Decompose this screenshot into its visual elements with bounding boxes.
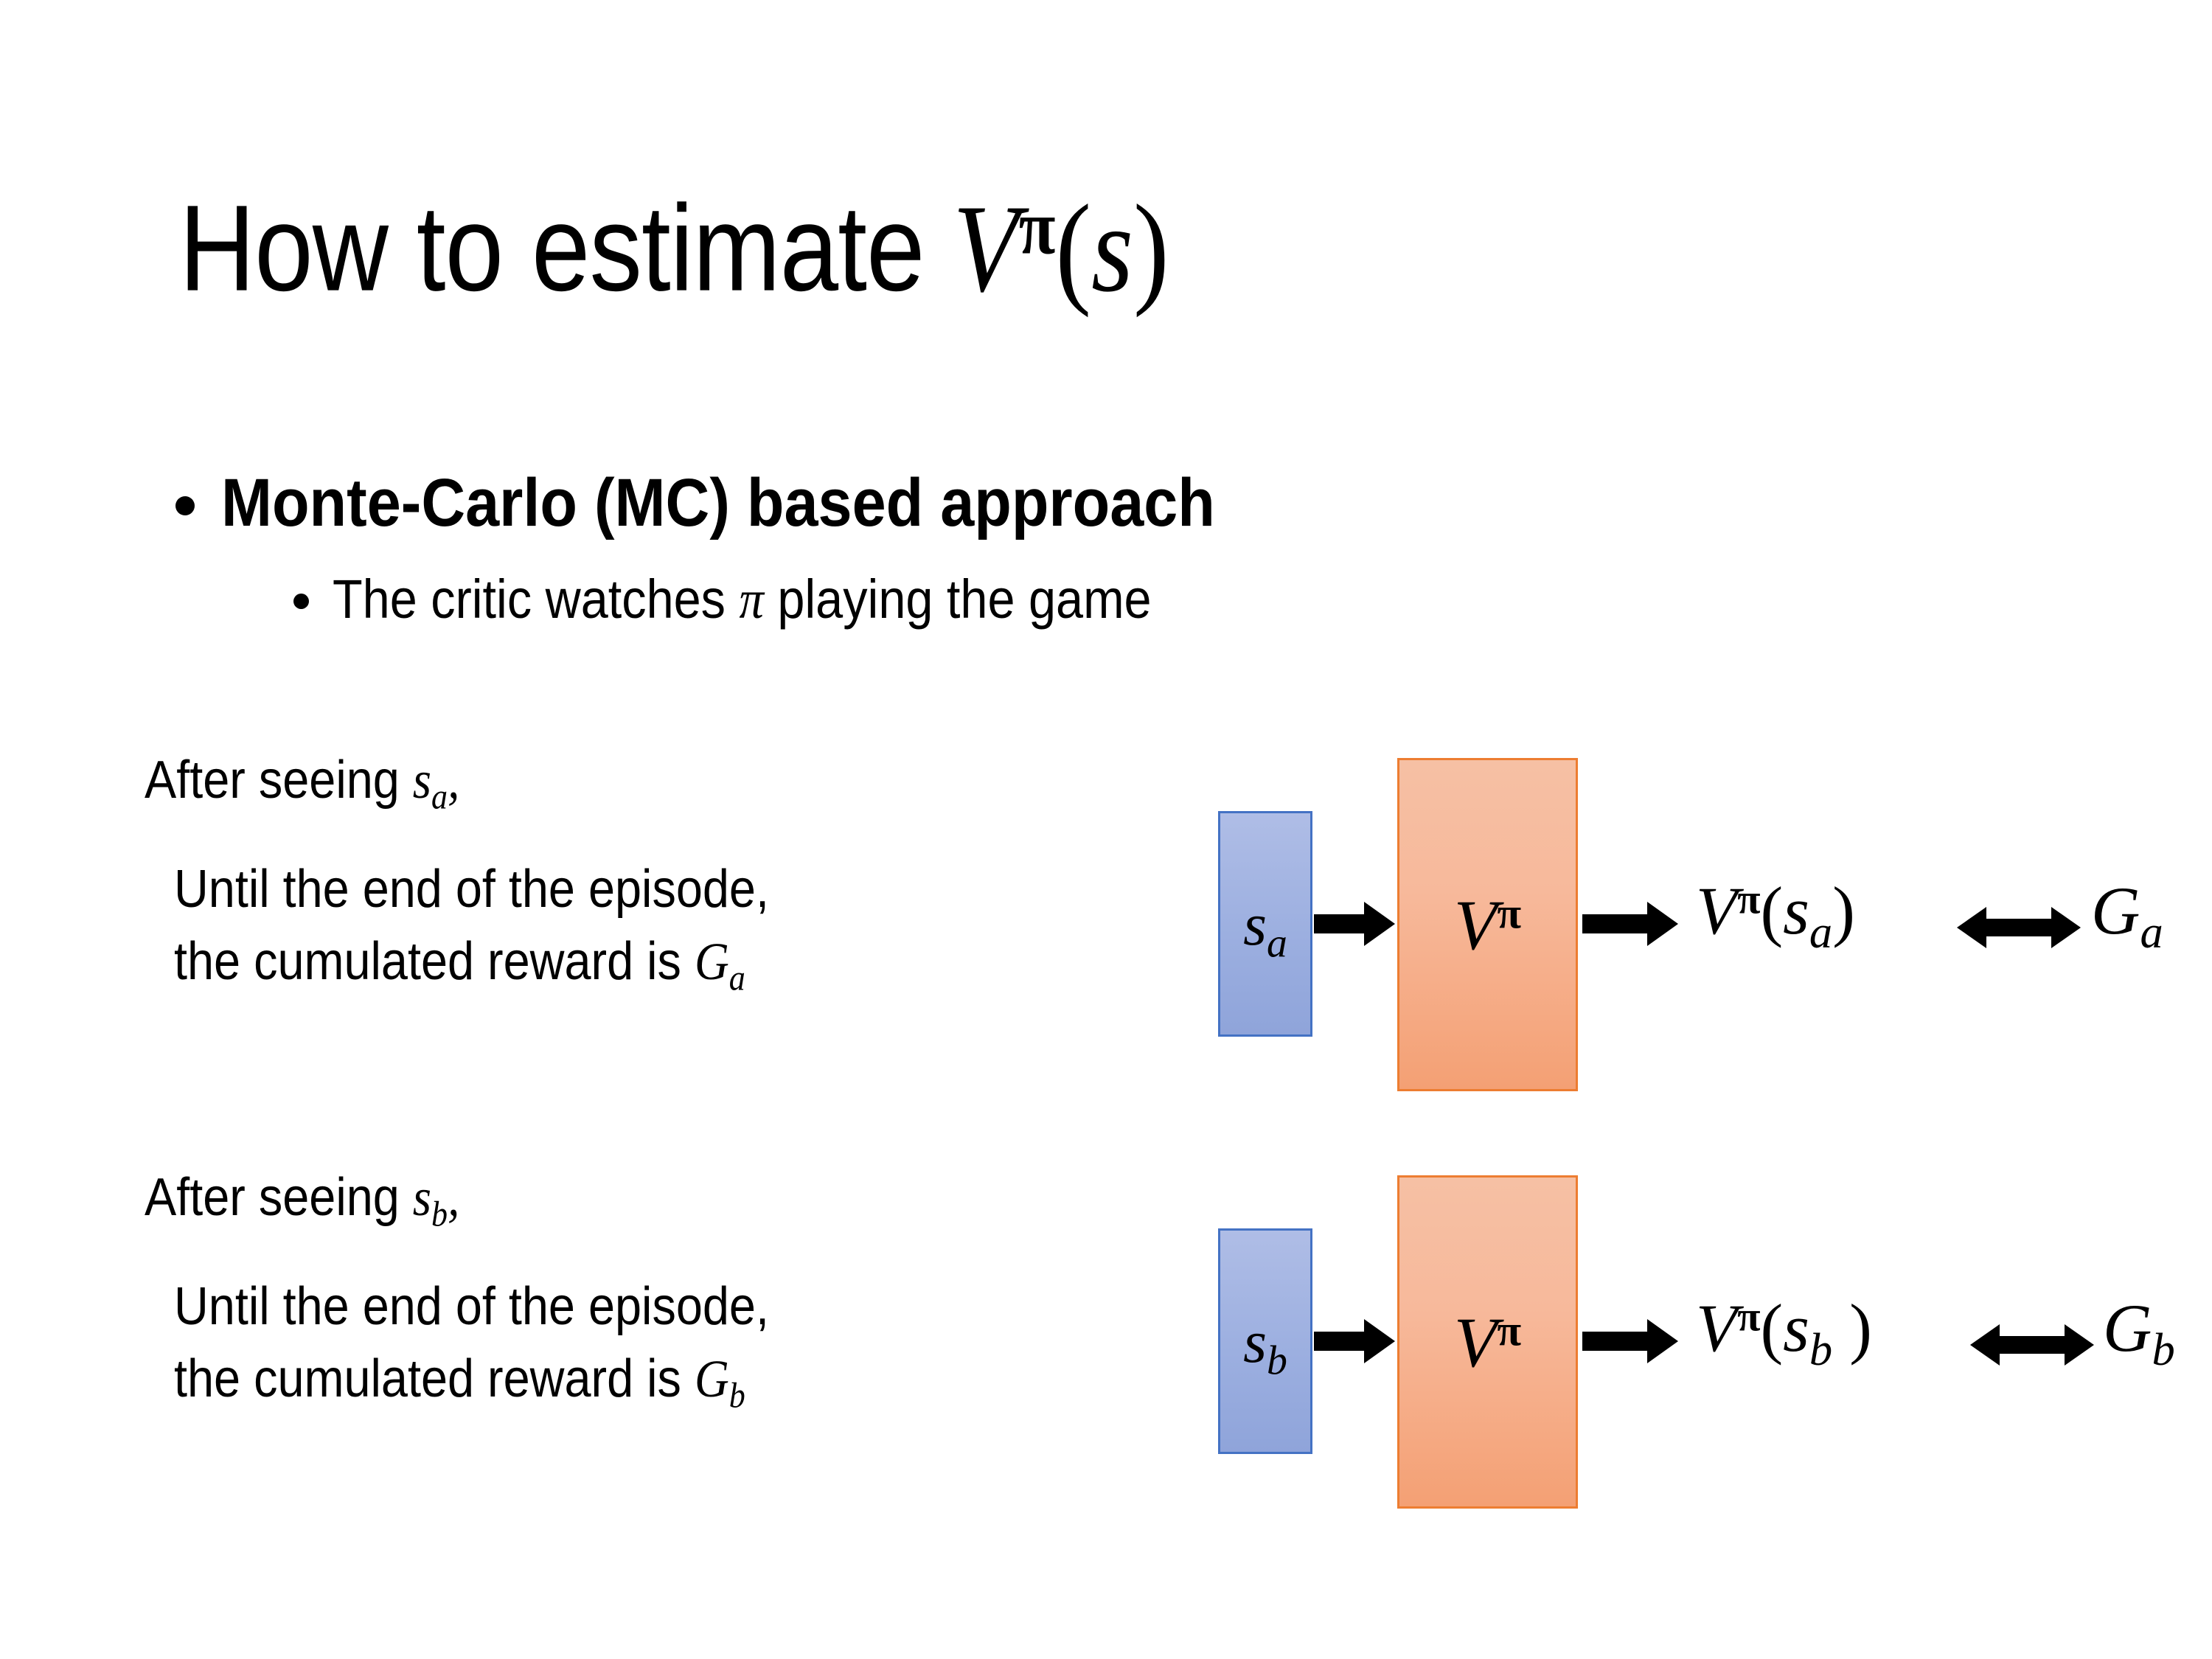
arrow-state-to-critic-a bbox=[1314, 914, 1395, 933]
state-box-a-label: sa bbox=[1243, 890, 1287, 967]
arrow-head-right-icon bbox=[2065, 1324, 2094, 1366]
target-expression-a: Ga bbox=[2091, 872, 2163, 959]
arrow-critic-to-output-a bbox=[1582, 914, 1686, 933]
bullet-item-level2: The critic watches π playing the game bbox=[293, 568, 1242, 632]
explanation-a-heading-prefix: After seeing bbox=[145, 751, 413, 810]
critic-b-superscript-pi: π bbox=[1498, 1306, 1522, 1354]
explanation-a-G-subscript: a bbox=[729, 957, 745, 998]
explanation-a-heading-comma: , bbox=[448, 751, 459, 810]
explanation-a-symbol-s: s bbox=[413, 751, 431, 810]
critic-box-a-label: Vπ bbox=[1454, 884, 1521, 966]
bullet-dot-icon bbox=[293, 594, 309, 609]
output-b-symbol-s: s bbox=[1783, 1290, 1809, 1366]
state-box-b: sb bbox=[1218, 1228, 1312, 1454]
explanation-block-a: After seeing sa, Until the end of the ep… bbox=[145, 746, 835, 1014]
bullet-level2-label: The critic watches π playing the game bbox=[333, 568, 1152, 632]
title-paren-close: ) bbox=[1133, 179, 1169, 318]
explanation-b-body-line1: Until the end of the episode, bbox=[174, 1277, 769, 1336]
target-b-symbol-G: G bbox=[2103, 1290, 2152, 1366]
arrow-head-icon bbox=[1364, 1319, 1395, 1363]
arrow-head-icon bbox=[1647, 1319, 1678, 1363]
state-box-a: sa bbox=[1218, 811, 1312, 1037]
arrow-bidirectional-a bbox=[1957, 919, 2081, 936]
output-a-symbol-V: V bbox=[1696, 873, 1737, 948]
explanation-b-symbol-G: G bbox=[695, 1349, 729, 1408]
target-expression-b: Gb bbox=[2103, 1289, 2175, 1377]
bullet-dot-icon bbox=[175, 496, 195, 515]
explanation-block-b: After seeing sb, Until the end of the ep… bbox=[145, 1164, 835, 1431]
arrow-head-left-icon bbox=[1957, 907, 1986, 948]
critic-b-symbol-V: V bbox=[1454, 1303, 1498, 1382]
arrow-head-icon bbox=[1364, 902, 1395, 946]
output-b-s-subscript: b bbox=[1809, 1324, 1832, 1375]
target-b-subscript: b bbox=[2152, 1324, 2174, 1375]
critic-box-b: Vπ bbox=[1397, 1175, 1578, 1509]
bullet-level2-suffix: playing the game bbox=[764, 568, 1152, 630]
title-superscript-pi: π bbox=[1019, 184, 1056, 270]
arrow-shaft bbox=[1582, 1332, 1650, 1351]
arrow-shaft bbox=[1995, 1336, 2069, 1354]
critic-a-superscript-pi: π bbox=[1498, 888, 1522, 937]
arrow-head-icon bbox=[1647, 902, 1678, 946]
explanation-b-G-subscript: b bbox=[729, 1374, 745, 1415]
explanation-a-body-line1: Until the end of the episode, bbox=[174, 860, 769, 919]
arrow-head-right-icon bbox=[2051, 907, 2081, 948]
critic-box-a: Vπ bbox=[1397, 758, 1578, 1091]
title-symbol-s: s bbox=[1091, 179, 1133, 318]
output-a-superscript-pi: π bbox=[1737, 877, 1760, 923]
explanation-a-body-line2-prefix: the cumulated reward is bbox=[174, 932, 695, 991]
explanation-b-body: Until the end of the episode, the cumula… bbox=[174, 1270, 769, 1432]
title-symbol-V: V bbox=[953, 179, 1018, 318]
explanation-b-body-line2-prefix: the cumulated reward is bbox=[174, 1349, 695, 1408]
title-paren-open: ( bbox=[1055, 179, 1091, 318]
output-b-symbol-V: V bbox=[1696, 1290, 1737, 1366]
output-b-paren-open: ( bbox=[1760, 1290, 1783, 1366]
output-b-superscript-pi: π bbox=[1737, 1294, 1760, 1340]
critic-box-b-label: Vπ bbox=[1454, 1301, 1521, 1383]
arrow-bidirectional-b bbox=[1970, 1336, 2094, 1354]
explanation-b-heading-comma: , bbox=[448, 1168, 459, 1227]
output-a-paren-open: ( bbox=[1760, 873, 1783, 948]
critic-a-symbol-V: V bbox=[1454, 886, 1498, 964]
output-a-s-subscript: a bbox=[1809, 906, 1832, 958]
state-a-symbol: s bbox=[1243, 891, 1267, 958]
explanation-b-subscript: b bbox=[431, 1194, 448, 1234]
bullet-level2-symbol-pi: π bbox=[739, 570, 763, 630]
explanation-b-heading: After seeing sb, bbox=[145, 1164, 766, 1248]
output-b-paren-close: ) bbox=[1832, 1290, 1872, 1366]
explanation-a-symbol-G: G bbox=[695, 932, 729, 991]
explanation-b-heading-prefix: After seeing bbox=[145, 1168, 413, 1227]
arrow-state-to-critic-b bbox=[1314, 1332, 1395, 1351]
state-a-subscript: a bbox=[1267, 920, 1287, 966]
state-box-b-label: sb bbox=[1243, 1307, 1287, 1385]
explanation-a-heading: After seeing sa, bbox=[145, 746, 766, 831]
page-title: How to estimate Vπ(s) bbox=[179, 161, 1764, 301]
bullet-level2-prefix: The critic watches bbox=[333, 568, 739, 630]
target-a-symbol-G: G bbox=[2091, 873, 2140, 948]
title-formula: Vπ(s) bbox=[953, 179, 1169, 318]
arrow-shaft bbox=[1982, 919, 2056, 936]
arrow-shaft bbox=[1314, 914, 1367, 933]
output-expression-a: Vπ(sa) bbox=[1696, 872, 1855, 959]
explanation-a-subscript: a bbox=[431, 776, 448, 817]
output-a-paren-close: ) bbox=[1832, 873, 1855, 948]
arrow-shaft bbox=[1314, 1332, 1367, 1351]
output-a-symbol-s: s bbox=[1783, 873, 1809, 948]
state-b-subscript: b bbox=[1267, 1338, 1287, 1383]
arrow-head-left-icon bbox=[1970, 1324, 2000, 1366]
arrow-critic-to-output-b bbox=[1582, 1332, 1686, 1351]
bullet-level1-label: Monte-Carlo (MC) based approach bbox=[221, 465, 1215, 542]
arrow-shaft bbox=[1582, 914, 1650, 933]
state-b-symbol: s bbox=[1243, 1308, 1267, 1375]
bullet-item-level1: Monte-Carlo (MC) based approach bbox=[175, 465, 1326, 542]
title-text: How to estimate bbox=[179, 181, 953, 317]
target-a-subscript: a bbox=[2140, 906, 2163, 958]
explanation-b-symbol-s: s bbox=[413, 1168, 431, 1227]
output-expression-b: Vπ(sb ) bbox=[1696, 1289, 1872, 1377]
explanation-a-body: Until the end of the episode, the cumula… bbox=[174, 853, 769, 1015]
